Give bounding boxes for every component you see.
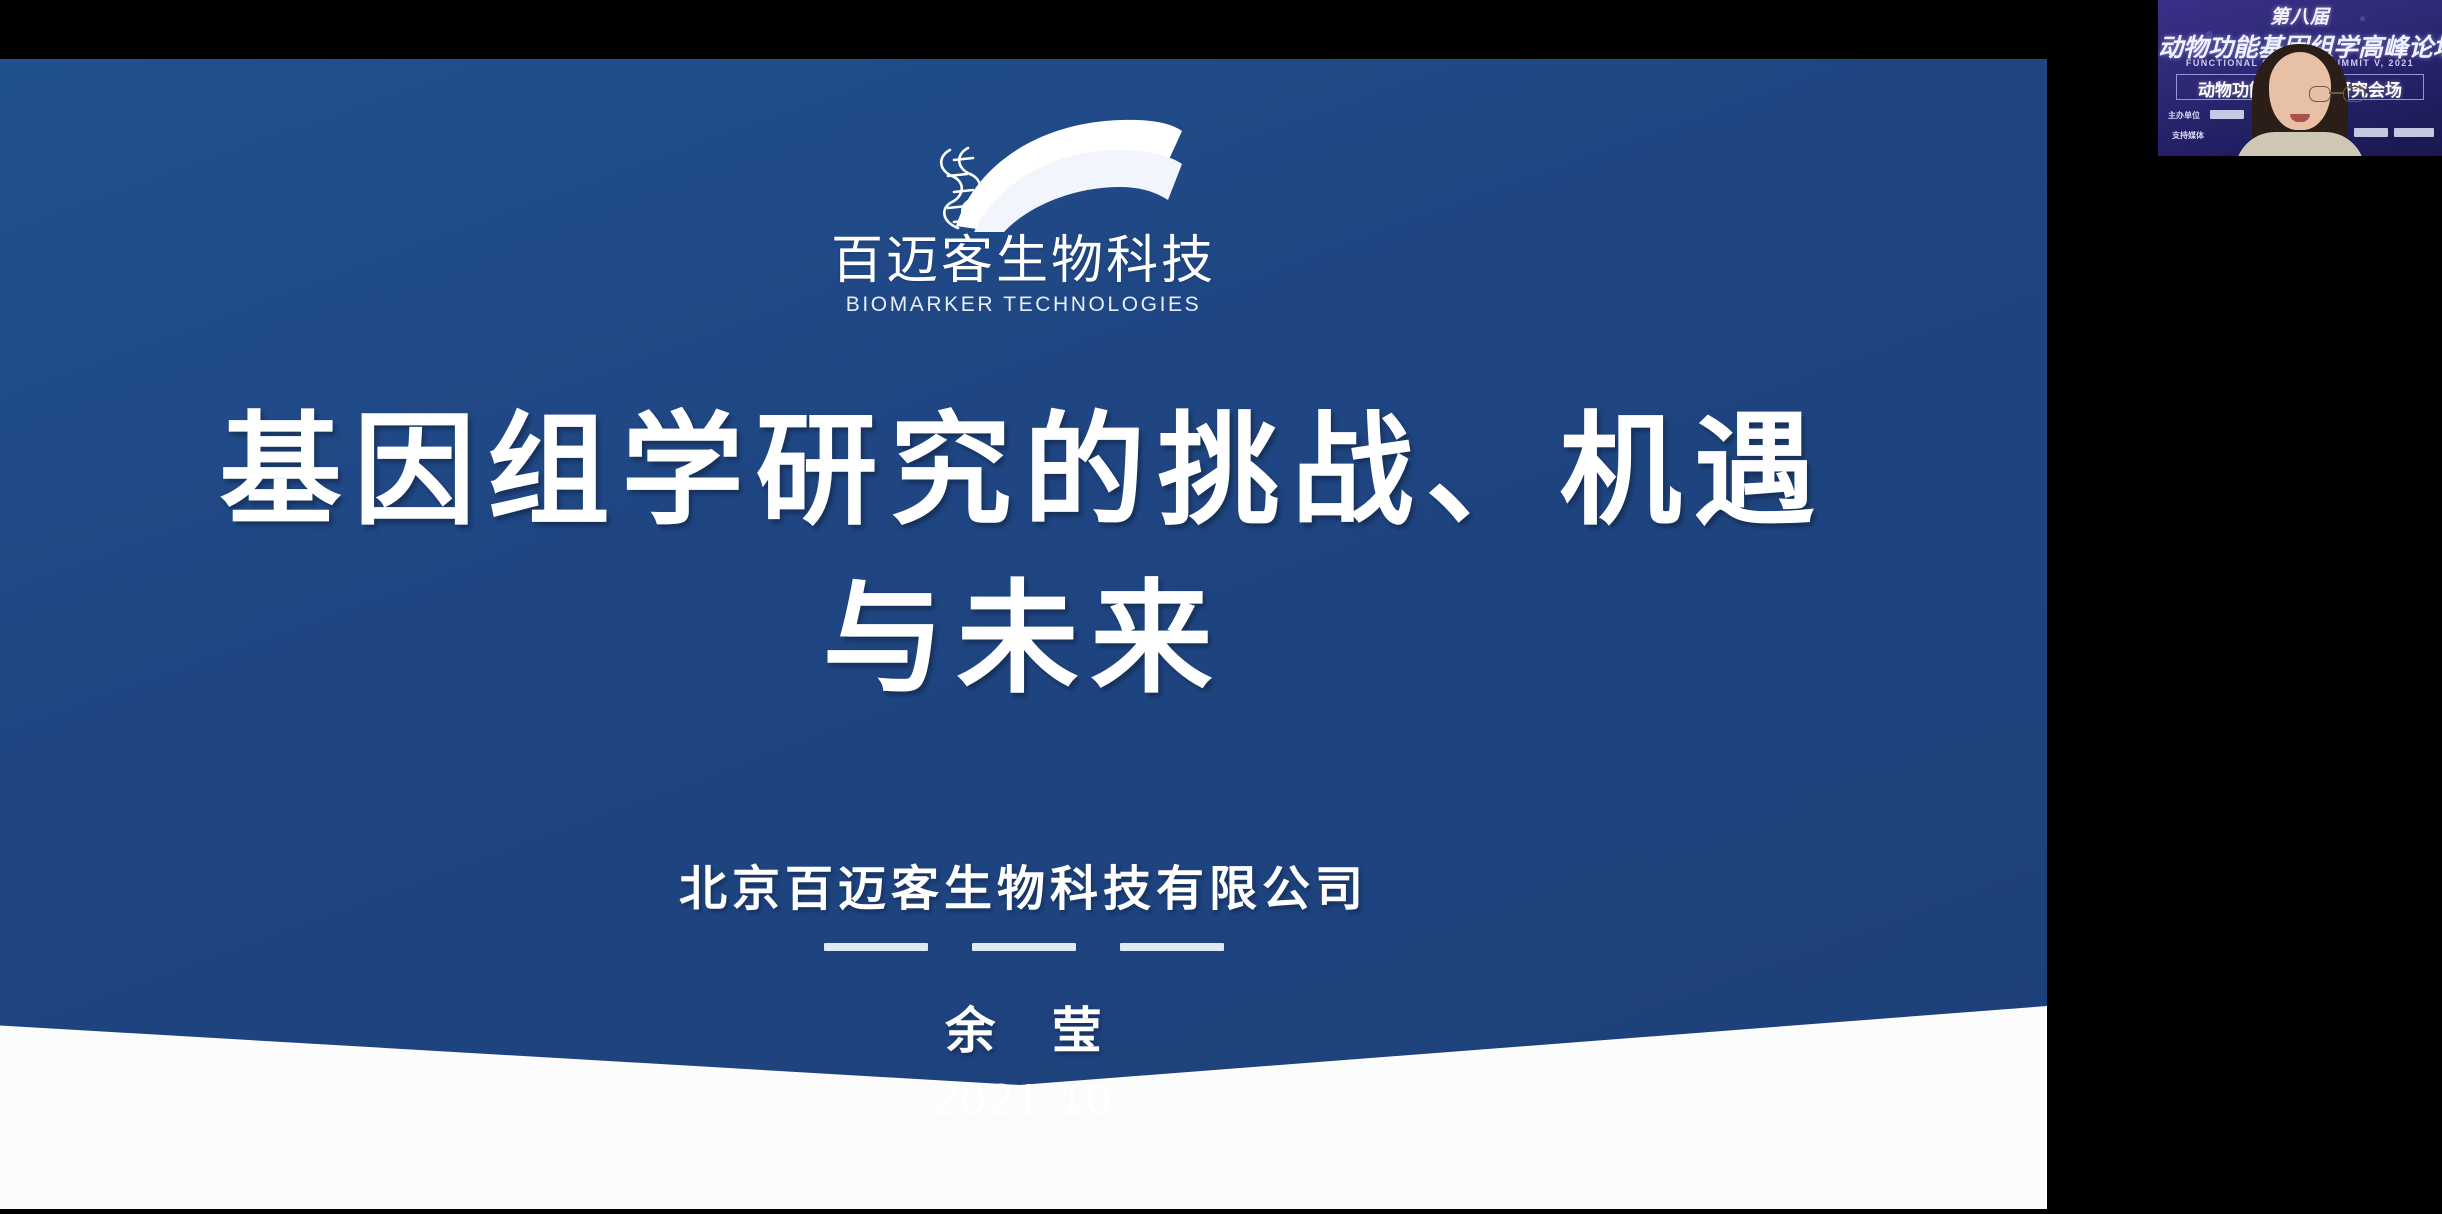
screen-share-stage: 百迈客生物科技 BIOMARKER TECHNOLOGIES 基因组学研究的挑战… [0, 0, 2442, 1214]
presenter-camera-tile[interactable]: 第八届 动物功能基因组学高峰论坛 FUNCTIONAL GENOMICS SUM… [2158, 0, 2442, 156]
slide-title: 基因组学研究的挑战、机遇 与未来 [0, 389, 2047, 726]
divider-dash [1120, 943, 1224, 951]
presenter-face [2269, 52, 2331, 130]
backdrop-host-label: 主办单位 [2168, 110, 2200, 121]
logo-company-name-en: BIOMARKER TECHNOLOGIES [0, 293, 2047, 317]
slide-footer: 北京百迈客生物科技有限公司 余 莹 2021.10 [0, 849, 2047, 1125]
presenter-name: 余 莹 [0, 991, 2047, 1063]
glasses-bridge-icon [2329, 92, 2343, 94]
backdrop-media-chip-2 [2394, 128, 2434, 137]
shared-slide[interactable]: 百迈客生物科技 BIOMARKER TECHNOLOGIES 基因组学研究的挑战… [0, 59, 2047, 1209]
logo-company-name-cn: 百迈客生物科技 [0, 234, 2047, 289]
divider-dash [972, 943, 1076, 951]
glasses-right-icon [2343, 86, 2365, 102]
divider-dash [824, 943, 928, 951]
biomarker-swoosh-dna-icon [864, 104, 1184, 232]
organization-name: 北京百迈客生物科技有限公司 [0, 849, 2047, 919]
divider-dashes [824, 943, 1224, 951]
slide-title-line-2: 与未来 [0, 557, 2047, 725]
presenter-mouth [2290, 114, 2310, 122]
backdrop-line-1: 第八届 [2158, 2, 2442, 29]
glasses-left-icon [2309, 86, 2331, 102]
presenter-avatar [2232, 44, 2368, 156]
backdrop-support-label: 支持媒体 [2172, 130, 2204, 141]
slide-title-line-1: 基因组学研究的挑战、机遇 [0, 389, 2047, 557]
slide-date: 2021.10 [0, 1075, 2047, 1125]
company-logo: 百迈客生物科技 BIOMARKER TECHNOLOGIES [0, 104, 2047, 317]
